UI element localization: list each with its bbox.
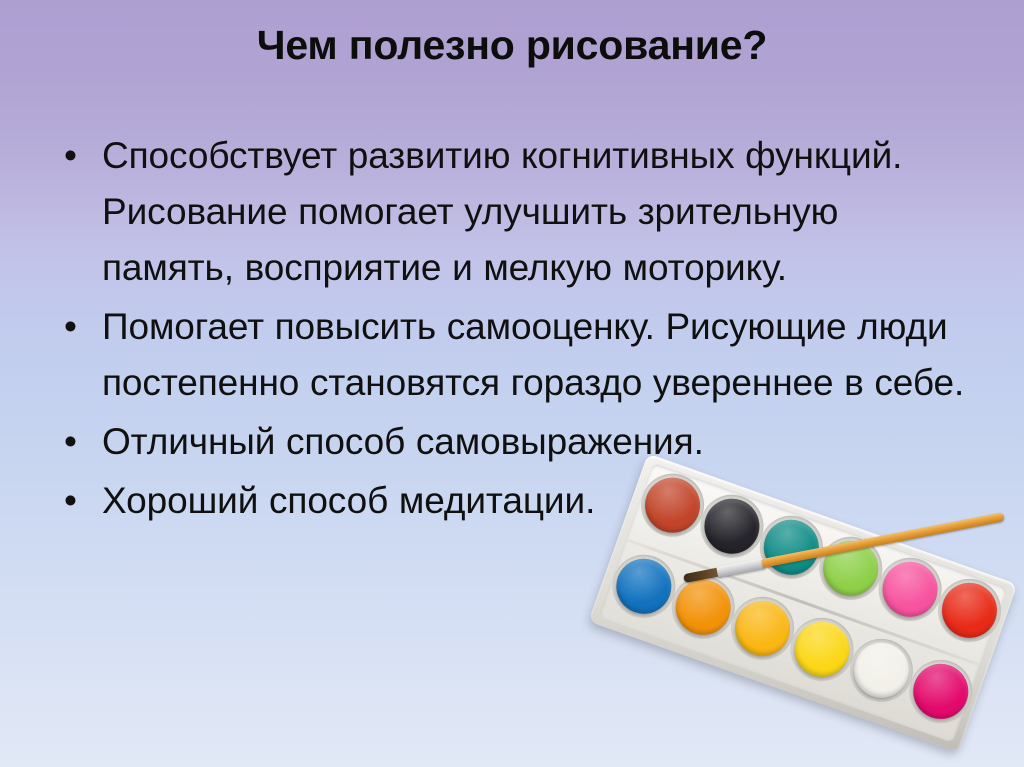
paint-pan-red (934, 575, 1004, 645)
list-item[interactable]: • Отличный способ самовыражения. (56, 414, 976, 470)
paint-pan-light-green (816, 533, 886, 603)
pan-socket (782, 609, 862, 689)
bullet-point-icon: • (64, 299, 86, 355)
paint-pan-white (846, 635, 916, 705)
presentation-slide: Чем полезно рисование? • Способствует ра… (0, 0, 1024, 767)
paint-pan-orange (668, 572, 738, 642)
list-item-text: Хороший способ медитации. (102, 473, 976, 529)
pan-socket (722, 588, 802, 668)
pan-socket (663, 567, 743, 647)
bullet-point-icon: • (64, 128, 86, 184)
list-item-text: Отличный способ самовыражения. (102, 414, 976, 470)
list-item-text: Способствует развитию когнитивных функци… (102, 128, 976, 296)
pan-socket (901, 651, 981, 731)
pan-socket (811, 528, 891, 608)
list-item[interactable]: • Хороший способ медитации. (56, 473, 976, 529)
paint-pan-amber (728, 593, 798, 663)
bullet-point-icon: • (64, 414, 86, 470)
list-item[interactable]: • Способствует развитию когнитивных функ… (56, 128, 976, 296)
paintbrush-ferrule (716, 558, 765, 578)
bullet-list: • Способствует развитию когнитивных функ… (56, 128, 976, 529)
pan-socket (841, 630, 921, 710)
paint-pan-pink (875, 554, 945, 624)
paint-pan-yellow (787, 614, 857, 684)
palette-row-divider (627, 539, 979, 666)
bullet-point-icon: • (64, 473, 86, 529)
list-item[interactable]: • Помогает повысить самооценку. Рисующие… (56, 299, 976, 411)
slide-title: Чем полезно рисование? (0, 22, 1024, 68)
paint-pan-blue (609, 551, 679, 621)
pan-socket (929, 570, 1009, 650)
list-item-text: Помогает повысить самооценку. Рисующие л… (102, 299, 976, 411)
paintbrush-bristles-icon (683, 567, 722, 583)
pan-socket (870, 549, 950, 629)
pan-socket (604, 546, 684, 626)
paint-pan-magenta (906, 656, 976, 726)
